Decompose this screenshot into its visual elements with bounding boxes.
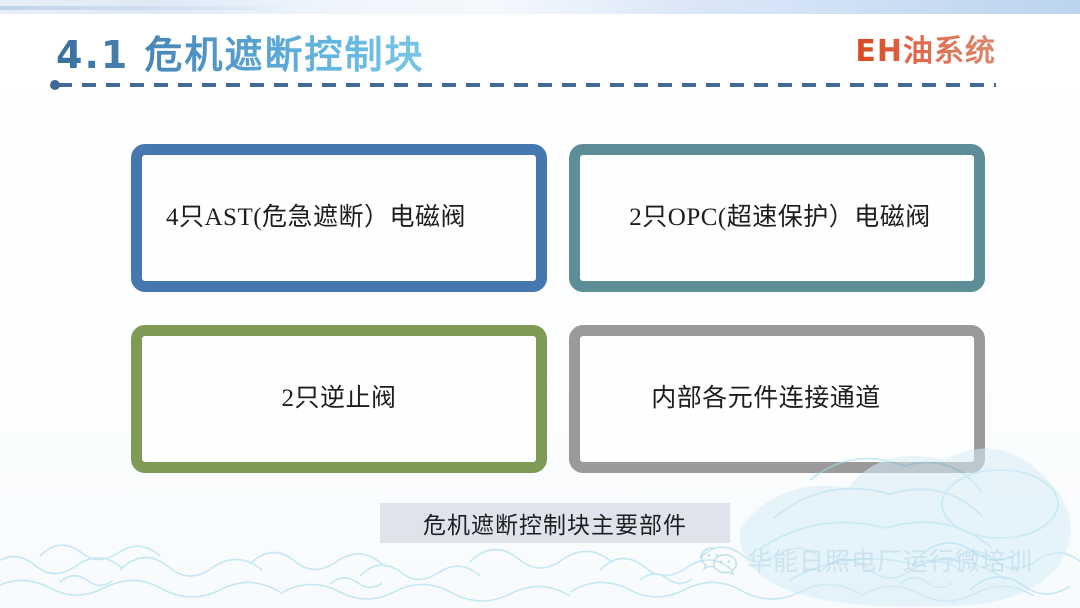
header-dashed-rule xyxy=(58,83,996,87)
component-box-internal-channel[interactable]: 内部各元件连接通道 xyxy=(569,325,985,473)
component-box-check-valve[interactable]: 2只逆止阀 xyxy=(131,325,547,473)
watermark-text: 华能日照电厂运行微培训 xyxy=(747,542,1033,578)
diagram-caption: 危机遮断控制块主要部件 xyxy=(380,503,730,543)
page-title: 4.1 危机遮断控制块 xyxy=(56,24,425,79)
component-box-ast-solenoid-valve[interactable]: 4只AST(危急遮断）电磁阀 xyxy=(131,144,547,292)
slide-header: 4.1 危机遮断控制块 EH油系统 xyxy=(0,0,1080,100)
component-box-opc-solenoid-valve[interactable]: 2只OPC(超速保护）电磁阀 xyxy=(569,144,985,292)
component-box-grid: 4只AST(危急遮断）电磁阀 2只OPC(超速保护）电磁阀 2只逆止阀 内部各元… xyxy=(131,144,985,473)
wechat-icon xyxy=(700,545,738,575)
component-box-label: 2只逆止阀 xyxy=(142,383,536,414)
component-box-label: 4只AST(危急遮断）电磁阀 xyxy=(142,202,536,233)
subject-label: EH油系统 xyxy=(855,26,996,70)
component-box-label: 内部各元件连接通道 xyxy=(580,383,974,414)
diagram-caption-text: 危机遮断控制块主要部件 xyxy=(423,506,687,540)
watermark: 华能日照电厂运行微培训 xyxy=(700,542,1033,578)
slide-canvas: 4.1 危机遮断控制块 EH油系统 4只AST(危急遮断）电磁阀 2只OPC(超… xyxy=(0,0,1080,608)
component-box-label: 2只OPC(超速保护）电磁阀 xyxy=(580,202,974,233)
